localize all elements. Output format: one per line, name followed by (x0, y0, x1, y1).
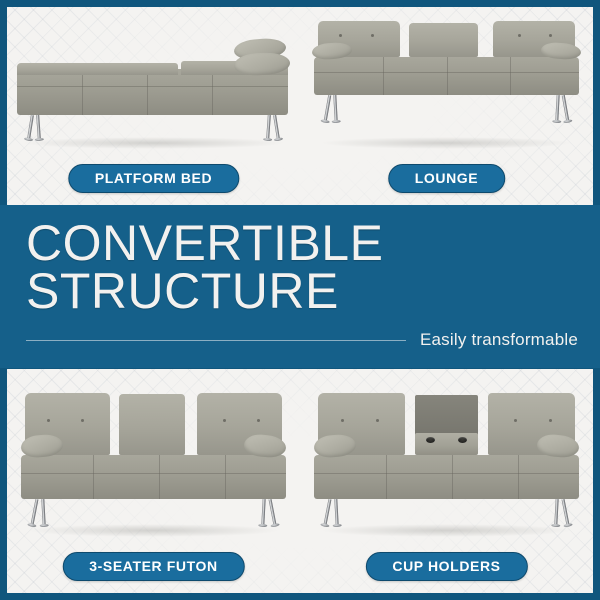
leg-front-left (324, 95, 331, 121)
cup-holder-right (458, 437, 467, 443)
banner-headline: CONVERTIBLE STRUCTURE (26, 219, 578, 315)
leg-back-left (333, 95, 337, 121)
cup-holder-console (415, 433, 479, 455)
badge-platform-bed[interactable]: PLATFORM BED (68, 164, 239, 193)
panel-lounge[interactable]: LOUNGE (300, 7, 593, 205)
leg-back-left (41, 499, 45, 525)
tagline-divider (26, 340, 406, 341)
platform-deck (17, 69, 288, 115)
backrest-center (119, 394, 185, 455)
leg-front-left (324, 499, 332, 525)
badge-3-seater-futon[interactable]: 3-SEATER FUTON (62, 552, 244, 581)
seat-deck (21, 455, 286, 499)
seat-deck (314, 455, 579, 499)
lounge-illustration (300, 7, 593, 159)
leg-front-right (562, 95, 569, 121)
cup-holder-left (426, 437, 435, 443)
seat-deck (314, 57, 579, 95)
backrest-center (409, 23, 478, 57)
sofa-platform-bed (15, 33, 292, 151)
leg-front-left (27, 115, 34, 139)
floor-shadow (320, 137, 573, 149)
leg-front-right (273, 115, 280, 139)
leg-back-left (36, 115, 41, 139)
floor-shadow (320, 524, 573, 537)
badge-lounge[interactable]: LOUNGE (388, 164, 506, 193)
infographic-container: PLATFORM BED (0, 0, 600, 600)
top-panel-zone: PLATFORM BED (7, 7, 593, 205)
platform-headrest-section (17, 63, 178, 75)
convertible-structure-banner: CONVERTIBLE STRUCTURE Easily transformab… (0, 205, 600, 368)
sofa-cup-holders (314, 393, 579, 537)
panel-3-seater-futon[interactable]: 3-SEATER FUTON (7, 369, 300, 593)
leg-front-right (562, 499, 570, 525)
sofa-3-seater-futon (21, 393, 286, 537)
headline-line-2: STRUCTURE (26, 267, 578, 315)
leg-front-right (269, 499, 277, 525)
cup-holders-illustration (300, 369, 593, 547)
leg-back-right (554, 499, 558, 525)
platform-bed-illustration (7, 7, 300, 159)
bottom-panel-zone: 3-SEATER FUTON (7, 369, 593, 593)
panel-platform-bed[interactable]: PLATFORM BED (7, 7, 300, 205)
leg-back-right (266, 115, 271, 139)
banner-tagline: Easily transformable (420, 330, 578, 350)
floor-shadow (27, 524, 280, 537)
sofa-lounge (314, 21, 579, 151)
leg-front-left (31, 499, 39, 525)
leg-back-left (334, 499, 338, 525)
panel-cup-holders[interactable]: CUP HOLDERS (300, 369, 593, 593)
leg-back-right (555, 95, 559, 121)
banner-tagline-row: Easily transformable (26, 330, 578, 350)
leg-back-right (261, 499, 265, 525)
floor-shadow (21, 137, 286, 149)
futon-illustration (7, 369, 300, 547)
badge-cup-holders[interactable]: CUP HOLDERS (365, 552, 527, 581)
